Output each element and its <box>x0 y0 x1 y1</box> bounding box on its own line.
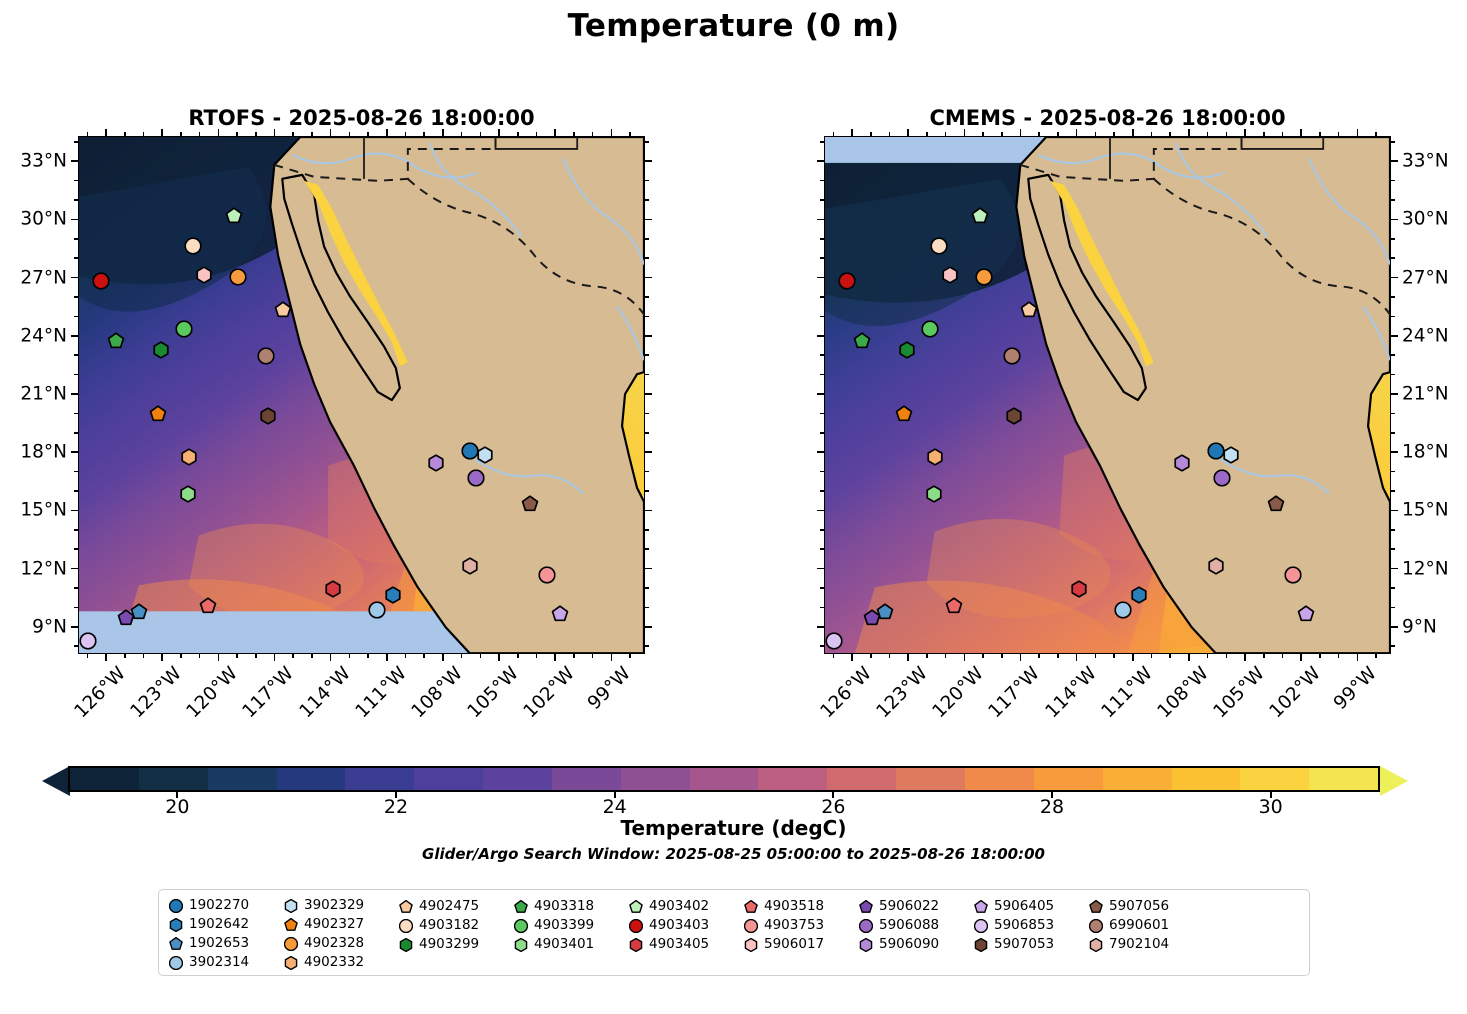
lat-tick-minor <box>1391 374 1395 376</box>
lat-tick-label: 24°N <box>20 325 67 346</box>
lat-tick <box>1391 219 1398 221</box>
lon-tick-minor <box>870 132 872 136</box>
lon-tick-label: 114°W <box>295 663 354 722</box>
lon-tick <box>964 654 966 661</box>
pentagon-marker-icon <box>629 899 643 913</box>
lon-tick-minor <box>1095 132 1097 136</box>
lon-tick-minor <box>480 132 482 136</box>
legend-item-5906088[interactable]: 5906088 <box>859 915 974 934</box>
legend-item-4903299[interactable]: 4903299 <box>399 934 514 953</box>
legend-label: 6990601 <box>1109 917 1169 933</box>
lat-tick-minor <box>645 413 649 415</box>
lon-tick-minor <box>517 132 519 136</box>
lat-tick <box>817 393 824 395</box>
lon-tick <box>218 654 220 661</box>
legend-label: 5906405 <box>994 898 1054 914</box>
lat-tick <box>817 277 824 279</box>
lat-tick-minor <box>820 199 824 201</box>
lat-tick-minor <box>1391 354 1395 356</box>
lat-tick-minor <box>645 296 649 298</box>
lat-tick-minor <box>820 529 824 531</box>
lat-tick <box>645 219 652 221</box>
legend-label: 5906022 <box>879 898 939 914</box>
lon-tick-minor <box>592 132 594 136</box>
lat-tick-label: 18°N <box>20 442 67 463</box>
lon-tick-minor <box>982 654 984 658</box>
lon-tick-minor <box>311 654 313 658</box>
lon-tick-label: 108°W <box>407 663 466 722</box>
lat-tick <box>645 160 652 162</box>
colorbar-segment <box>690 768 759 790</box>
lon-tick-label: 105°W <box>464 663 523 722</box>
legend-item-4903399[interactable]: 4903399 <box>514 915 629 934</box>
lat-tick-minor <box>74 238 78 240</box>
lon-tick-minor <box>143 132 145 136</box>
circle-marker-icon <box>514 918 528 932</box>
lat-tick <box>71 393 78 395</box>
lon-tick-minor <box>833 654 835 658</box>
legend-label: 4903299 <box>419 936 479 952</box>
lat-tick-minor <box>820 238 824 240</box>
legend-label: 4902327 <box>304 916 364 932</box>
colorbar-gradient <box>68 766 1380 792</box>
lat-tick-minor <box>1391 529 1395 531</box>
lat-tick <box>645 335 652 337</box>
legend-item-4903401[interactable]: 4903401 <box>514 934 629 953</box>
colorbar-tick <box>1051 792 1053 798</box>
lon-tick-minor <box>945 654 947 658</box>
lat-tick-minor <box>820 490 824 492</box>
hexagon-marker-icon <box>514 937 528 951</box>
lat-tick <box>1391 626 1398 628</box>
lon-tick <box>1020 129 1022 136</box>
pentagon-marker-icon <box>169 936 183 950</box>
pentagon-marker-icon <box>744 899 758 913</box>
legend-item-5906090[interactable]: 5906090 <box>859 934 974 953</box>
legend-label: 1902270 <box>189 897 249 913</box>
legend-item-1902642[interactable]: 1902642 <box>169 915 284 934</box>
colorbar-tick <box>176 792 178 798</box>
colorbar-segment <box>758 768 827 790</box>
lat-tick-minor <box>645 257 649 259</box>
pentagon-marker-icon <box>284 917 298 931</box>
circle-marker-icon <box>169 955 183 969</box>
lat-tick-label: 27°N <box>20 267 67 288</box>
lat-tick-minor <box>645 432 649 434</box>
lat-tick <box>645 393 652 395</box>
lon-tick <box>105 654 107 661</box>
lat-tick-minor <box>645 529 649 531</box>
lat-tick-minor <box>820 548 824 550</box>
legend-label: 5906088 <box>879 917 939 933</box>
lon-tick-label: 117°W <box>985 663 1044 722</box>
legend-item-4902327[interactable]: 4902327 <box>284 915 399 934</box>
lon-tick-label: 123°W <box>873 663 932 722</box>
lat-tick <box>71 160 78 162</box>
lat-tick-minor <box>820 645 824 647</box>
lon-tick <box>1076 129 1078 136</box>
lon-tick <box>1132 129 1134 136</box>
lon-tick-label: 123°W <box>127 663 186 722</box>
lon-tick-minor <box>889 132 891 136</box>
lon-tick-minor <box>945 132 947 136</box>
panel-title-rtofs: RTOFS - 2025-08-26 18:00:00 <box>78 106 645 136</box>
legend-item-5907056[interactable]: 5907056 <box>1089 896 1204 915</box>
lon-tick-minor <box>1151 654 1153 658</box>
lat-tick-minor <box>820 587 824 589</box>
lat-tick-label: 21°N <box>1402 384 1449 405</box>
lon-tick-label: 99°W <box>1330 663 1381 714</box>
lat-tick-minor <box>74 529 78 531</box>
colorbar-tick-label: 28 <box>1040 796 1064 818</box>
colorbar-tick <box>1270 792 1272 798</box>
colorbar-segment <box>827 768 896 790</box>
legend-item-4902475[interactable]: 4902475 <box>399 896 514 915</box>
colorbar-segment <box>345 768 414 790</box>
lon-tick-minor <box>124 132 126 136</box>
pentagon-marker-icon <box>974 899 988 913</box>
lon-tick <box>1132 654 1134 661</box>
lon-tick <box>1300 129 1302 136</box>
lon-tick <box>907 129 909 136</box>
hexagon-marker-icon <box>399 937 413 951</box>
hexagon-marker-icon <box>1089 937 1103 951</box>
lat-tick <box>1391 393 1398 395</box>
lat-tick-minor <box>1391 238 1395 240</box>
lon-tick-minor <box>1226 654 1228 658</box>
lat-tick <box>817 219 824 221</box>
lat-tick-label: 9°N <box>32 616 67 637</box>
legend-label: 4903753 <box>764 917 824 933</box>
legend-column: 490351849037535906017 <box>744 896 859 971</box>
lat-tick <box>1391 335 1398 337</box>
legend-item-4903403[interactable]: 4903403 <box>629 915 744 934</box>
lat-tick <box>1391 510 1398 512</box>
legend-item-5906405[interactable]: 5906405 <box>974 896 1089 915</box>
lon-tick-minor <box>926 132 928 136</box>
lat-tick-minor <box>74 471 78 473</box>
legend-column: 590640559068535907053 <box>974 896 1089 971</box>
lat-tick-minor <box>74 607 78 609</box>
page-title: Temperature (0 m) <box>0 8 1467 44</box>
lat-tick-minor <box>820 180 824 182</box>
lon-tick-minor <box>180 132 182 136</box>
lat-tick <box>817 335 824 337</box>
lon-tick-minor <box>87 132 89 136</box>
lat-tick-minor <box>74 432 78 434</box>
lat-tick-minor <box>1391 296 1395 298</box>
lat-tick <box>71 626 78 628</box>
legend-item-5906022[interactable]: 5906022 <box>859 896 974 915</box>
pentagon-marker-icon <box>399 899 413 913</box>
lat-tick-minor <box>645 645 649 647</box>
legend-item-4903182[interactable]: 4903182 <box>399 915 514 934</box>
legend-item-4903753[interactable]: 4903753 <box>744 915 859 934</box>
lat-tick <box>1391 277 1398 279</box>
lat-tick <box>71 277 78 279</box>
lon-tick <box>386 129 388 136</box>
lon-tick-label: 117°W <box>239 663 298 722</box>
lon-tick-minor <box>367 132 369 136</box>
lat-tick-minor <box>820 257 824 259</box>
lat-tick-label: 27°N <box>1402 267 1449 288</box>
lon-tick-minor <box>199 654 201 658</box>
colorbar-segment <box>1034 768 1103 790</box>
lat-tick-minor <box>645 490 649 492</box>
lon-tick-minor <box>1282 132 1284 136</box>
legend-label: 5906090 <box>879 936 939 952</box>
lon-tick-minor <box>1038 132 1040 136</box>
legend-label: 4903402 <box>649 898 709 914</box>
lon-tick-minor <box>536 654 538 658</box>
lat-tick-minor <box>1391 413 1395 415</box>
legend-column: 1902270190264219026533902314 <box>169 896 284 971</box>
lon-tick <box>105 129 107 136</box>
legend-item-7902104[interactable]: 7902104 <box>1089 934 1204 953</box>
legend-item-4902332[interactable]: 4902332 <box>284 952 399 971</box>
lat-tick <box>817 626 824 628</box>
legend-label: 4902328 <box>304 935 364 951</box>
lon-tick-minor <box>1057 654 1059 658</box>
legend-item-6990601[interactable]: 6990601 <box>1089 915 1204 934</box>
lat-tick-label: 33°N <box>1402 151 1449 172</box>
lat-tick <box>645 510 652 512</box>
colorbar-label: Temperature (degC) <box>0 816 1467 840</box>
lon-tick-minor <box>926 654 928 658</box>
lat-tick-label: 30°N <box>1402 209 1449 230</box>
colorbar-segment <box>552 768 621 790</box>
legend-column: 490331849033994903401 <box>514 896 629 971</box>
colorbar-segment <box>965 768 1034 790</box>
lat-tick-minor <box>1391 645 1395 647</box>
colorbar-tick <box>614 792 616 798</box>
lon-tick <box>442 129 444 136</box>
circle-marker-icon <box>629 918 643 932</box>
lon-tick <box>1076 654 1078 661</box>
legend-item-4903402[interactable]: 4903402 <box>629 896 744 915</box>
legend-label: 4903405 <box>649 936 709 952</box>
lon-tick <box>498 129 500 136</box>
legend-item-5906017[interactable]: 5906017 <box>744 934 859 953</box>
lon-tick-minor <box>480 654 482 658</box>
lon-tick <box>611 129 613 136</box>
lon-tick-label: 102°W <box>1266 663 1325 722</box>
lat-tick-minor <box>820 374 824 376</box>
legend-item-4903318[interactable]: 4903318 <box>514 896 629 915</box>
colorbar-tick <box>832 792 834 798</box>
legend-column: 490247549031824903299 <box>399 896 514 971</box>
lon-tick-minor <box>199 132 201 136</box>
lat-tick <box>817 451 824 453</box>
lon-tick-label: 111°W <box>351 663 410 722</box>
colorbar-segment <box>414 768 483 790</box>
search-window-note: Glider/Argo Search Window: 2025-08-25 05… <box>0 845 1467 863</box>
lon-tick-minor <box>982 132 984 136</box>
circle-marker-icon <box>169 898 183 912</box>
lat-tick-minor <box>645 548 649 550</box>
lon-tick-minor <box>1113 654 1115 658</box>
lon-tick-label: 99°W <box>584 663 635 714</box>
legend-column: 490340249034034903405 <box>629 896 744 971</box>
colorbar-segment <box>139 768 208 790</box>
lat-tick-minor <box>645 316 649 318</box>
lon-tick-label: 111°W <box>1097 663 1156 722</box>
colorbar-tick-label: 20 <box>165 796 189 818</box>
lon-tick-minor <box>1095 654 1097 658</box>
legend-item-5907053[interactable]: 5907053 <box>974 934 1089 953</box>
lat-tick <box>645 451 652 453</box>
lat-tick <box>71 568 78 570</box>
colorbar: 202224262830 <box>0 760 1467 800</box>
lat-tick-minor <box>820 413 824 415</box>
lon-tick-minor <box>405 654 407 658</box>
lon-tick-minor <box>573 654 575 658</box>
lon-tick <box>1300 654 1302 661</box>
legend-item-3902314[interactable]: 3902314 <box>169 952 284 971</box>
legend-item-1902653[interactable]: 1902653 <box>169 934 284 953</box>
lat-tick-minor <box>820 316 824 318</box>
lat-tick-minor <box>74 587 78 589</box>
legend-item-4903518[interactable]: 4903518 <box>744 896 859 915</box>
lon-tick-minor <box>1001 654 1003 658</box>
lat-tick-minor <box>820 471 824 473</box>
lat-tick-minor <box>645 141 649 143</box>
legend-item-3902329[interactable]: 3902329 <box>284 896 399 915</box>
lon-tick-minor <box>1282 654 1284 658</box>
lat-tick-minor <box>1391 199 1395 201</box>
legend-label: 1902653 <box>189 935 249 951</box>
lon-tick-minor <box>889 654 891 658</box>
lat-tick-minor <box>820 607 824 609</box>
lon-tick-minor <box>1151 132 1153 136</box>
lat-tick <box>71 451 78 453</box>
lon-tick-minor <box>423 132 425 136</box>
hexagon-marker-icon <box>859 937 873 951</box>
map-panel-rtofs: RTOFS - 2025-08-26 18:00:00 <box>78 136 645 654</box>
lon-tick-minor <box>367 654 369 658</box>
lat-tick <box>71 510 78 512</box>
legend-label: 7902104 <box>1109 936 1169 952</box>
lat-tick-minor <box>74 296 78 298</box>
lon-tick <box>161 129 163 136</box>
legend-item-4903405[interactable]: 4903405 <box>629 934 744 953</box>
colorbar-segment <box>277 768 346 790</box>
lon-tick-minor <box>405 132 407 136</box>
lat-tick-minor <box>74 199 78 201</box>
lat-tick-label: 18°N <box>1402 442 1449 463</box>
lon-tick <box>274 654 276 661</box>
lon-tick-minor <box>255 132 257 136</box>
legend-label: 5906017 <box>764 936 824 952</box>
lon-tick-label: 108°W <box>1153 663 1212 722</box>
lat-tick-minor <box>645 180 649 182</box>
lon-tick <box>1188 129 1190 136</box>
lat-tick-minor <box>820 296 824 298</box>
panel-title-cmems: CMEMS - 2025-08-26 18:00:00 <box>824 106 1391 136</box>
colorbar-tick-label: 22 <box>384 796 408 818</box>
lat-tick-minor <box>645 607 649 609</box>
lon-tick-minor <box>1207 654 1209 658</box>
colorbar-extend-low-arrow <box>42 766 70 796</box>
lat-tick-label: 33°N <box>20 151 67 172</box>
lat-tick <box>817 510 824 512</box>
lon-tick <box>851 654 853 661</box>
lat-tick-label: 9°N <box>1402 616 1437 637</box>
lon-tick-minor <box>536 132 538 136</box>
lon-tick-minor <box>1169 654 1171 658</box>
colorbar-segment <box>621 768 690 790</box>
hexagon-marker-icon <box>744 937 758 951</box>
legend-label: 3902329 <box>304 897 364 913</box>
legend-item-5906853[interactable]: 5906853 <box>974 915 1089 934</box>
lat-tick-minor <box>645 374 649 376</box>
legend-label: 4903182 <box>419 917 479 933</box>
lon-tick-minor <box>349 132 351 136</box>
lat-tick <box>817 160 824 162</box>
lon-tick-label: 120°W <box>929 663 988 722</box>
lon-tick-minor <box>629 132 631 136</box>
legend-label: 4903318 <box>534 898 594 914</box>
lon-tick-minor <box>87 654 89 658</box>
colorbar-segment <box>208 768 277 790</box>
circle-marker-icon <box>859 918 873 932</box>
lat-tick-minor <box>1391 180 1395 182</box>
pentagon-marker-icon <box>514 899 528 913</box>
colorbar-segment <box>483 768 552 790</box>
circle-marker-icon <box>1089 918 1103 932</box>
lon-tick-minor <box>292 654 294 658</box>
lon-tick-minor <box>1001 132 1003 136</box>
lat-tick-minor <box>645 587 649 589</box>
lat-tick-minor <box>1391 490 1395 492</box>
legend-label: 4903403 <box>649 917 709 933</box>
hexagon-marker-icon <box>169 917 183 931</box>
legend-item-1902270[interactable]: 1902270 <box>169 896 284 915</box>
lat-tick-minor <box>74 413 78 415</box>
lat-tick-minor <box>645 238 649 240</box>
lon-tick-minor <box>1338 132 1340 136</box>
lon-tick-minor <box>143 654 145 658</box>
lat-tick-minor <box>1391 257 1395 259</box>
legend-item-4902328[interactable]: 4902328 <box>284 934 399 953</box>
lat-tick-minor <box>820 354 824 356</box>
pentagon-marker-icon <box>1089 899 1103 913</box>
colorbar-extend-high-arrow <box>1380 766 1408 796</box>
lon-tick-minor <box>180 654 182 658</box>
lon-tick <box>611 654 613 661</box>
lat-tick-minor <box>74 316 78 318</box>
legend-label: 4903518 <box>764 898 824 914</box>
lat-tick-label: 21°N <box>20 384 67 405</box>
legend-label: 5906853 <box>994 917 1054 933</box>
lon-tick-minor <box>1169 132 1171 136</box>
lon-tick-label: 105°W <box>1210 663 1269 722</box>
lon-tick-minor <box>461 654 463 658</box>
lat-tick-minor <box>820 432 824 434</box>
legend-column: 590705669906017902104 <box>1089 896 1204 971</box>
lat-tick <box>1391 160 1398 162</box>
lon-tick-minor <box>517 654 519 658</box>
lon-tick-minor <box>592 654 594 658</box>
lon-tick-label: 114°W <box>1041 663 1100 722</box>
lon-tick-minor <box>292 132 294 136</box>
hexagon-marker-icon <box>974 937 988 951</box>
lon-tick-minor <box>573 132 575 136</box>
circle-marker-icon <box>744 918 758 932</box>
lon-tick-label: 120°W <box>183 663 242 722</box>
lon-tick <box>964 129 966 136</box>
lat-tick-minor <box>74 141 78 143</box>
